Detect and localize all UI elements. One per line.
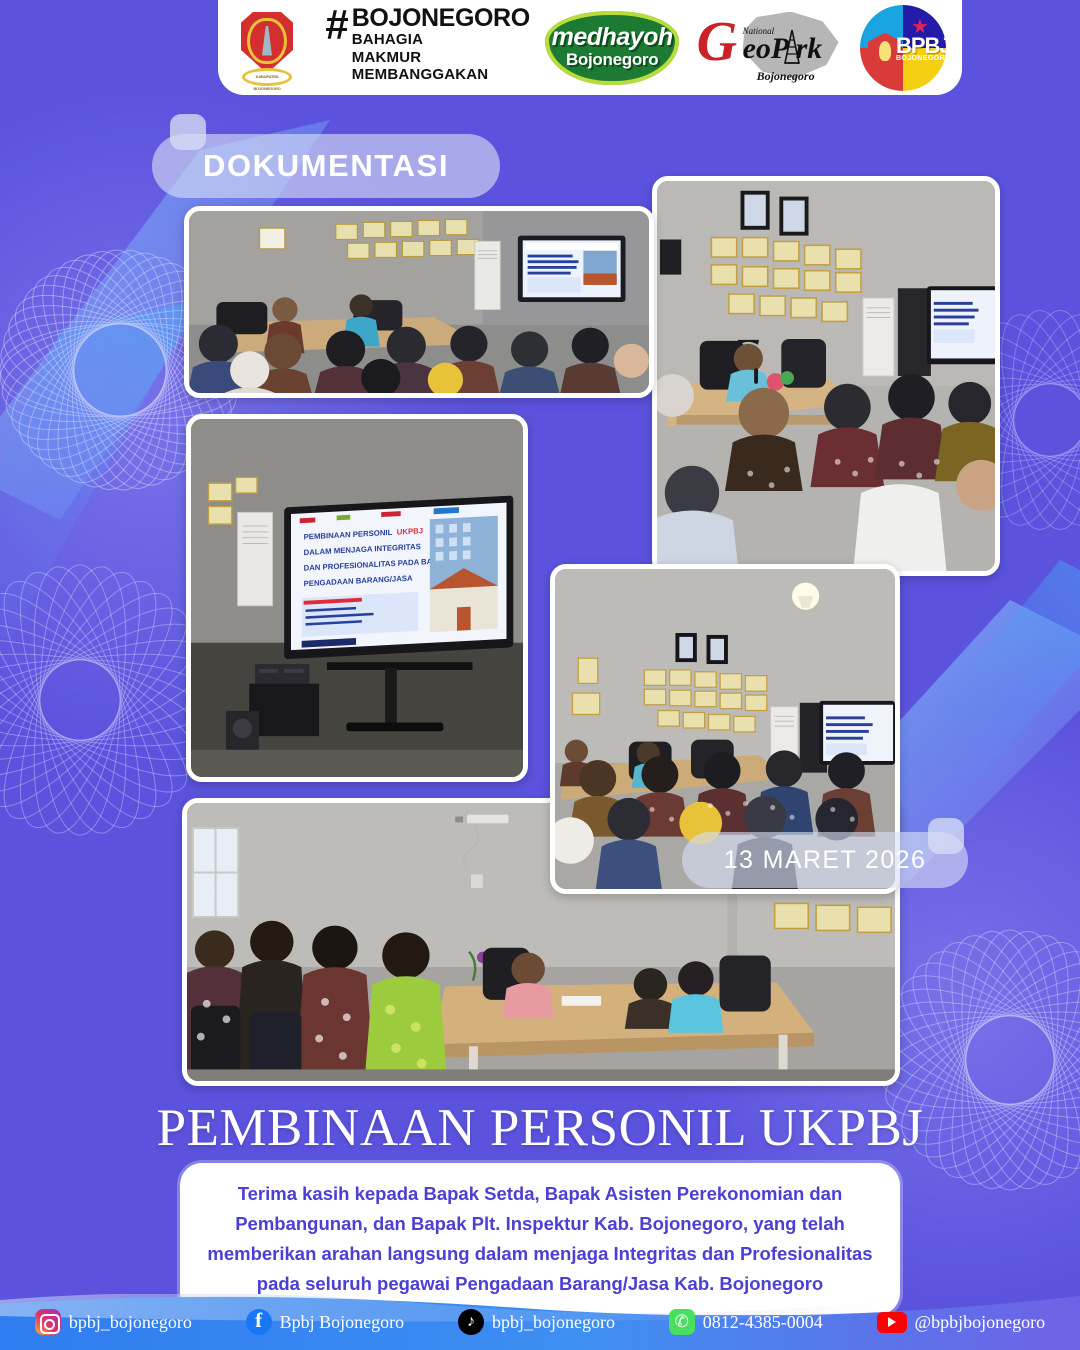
whatsapp-number: 0812-4385-0004 [703,1312,823,1333]
social-footer-bar: bpbj_bojonegoro f Bpbj Bojonegoro ♪ bpbj… [0,1294,1080,1350]
logo-national-geopark: G National eoP rk Bojonegoro [695,6,845,89]
hashtag-word-bahagia: BAHAGIA [352,31,530,49]
oil-derrick-icon [781,30,803,64]
page-title: PEMBINAAN PERSONIL UKPBJ [0,1098,1080,1158]
logo-hashtag-bojonegoro: # BOJONEGORO BAHAGIA MAKMUR MEMBANGGAKAN [325,6,529,89]
bpbj-text: BPBJ [896,35,946,57]
emblem-caption: KABUPATEN BOJONEGORO [245,71,289,95]
facebook-handle: Bpbj Bojonegoro [280,1312,405,1333]
logo-bojonegoro-regency-emblem: KABUPATEN BOJONEGORO [234,6,300,89]
social-tiktok[interactable]: ♪ bpbj_bojonegoro [458,1309,615,1335]
hash-symbol-icon: # [325,6,346,45]
decorative-square-date [928,818,964,854]
geopark-g-letter: G [697,14,737,70]
svg-text:UKPBJ: UKPBJ [397,526,423,536]
social-whatsapp[interactable]: ✆ 0812-4385-0004 [669,1309,823,1335]
youtube-handle: @bpbjbojonegoro [915,1312,1046,1333]
facebook-icon[interactable]: f [246,1309,272,1335]
date-badge: 13 MARET 2026 [682,832,968,888]
social-facebook[interactable]: f Bpbj Bojonegoro [246,1309,405,1335]
tiktok-handle: bpbj_bojonegoro [492,1312,615,1333]
hashtag-line-1: BOJONEGORO [352,6,530,31]
medhayoh-line-2: Bojonegoro [545,51,679,68]
logo-bpbj-bojonegoro: BPBJ BOJONEGORO [860,6,946,89]
youtube-icon[interactable] [877,1312,907,1333]
hashtag-word-membanggakan: MEMBANGGAKAN [352,66,530,84]
caption-text: Terima kasih kepada Bapak Setda, Bapak A… [180,1163,900,1315]
photo-audience-wide [184,206,654,398]
tiktok-icon[interactable]: ♪ [458,1309,484,1335]
header-logo-bar: KABUPATEN BOJONEGORO # BOJONEGORO BAHAGI… [218,0,962,95]
whatsapp-icon[interactable]: ✆ [669,1309,695,1335]
social-youtube[interactable]: @bpbjbojonegoro [877,1312,1046,1333]
photo-presentation-screen: PEMBINAAN PERSONIL DALAM MENJAGA INTEGRI… [186,414,528,782]
photo-speaker-mic [652,176,1000,576]
bpbj-subtitle: BOJONEGORO [896,55,946,62]
logo-medhayoh-bojonegoro: medhayoh Bojonegoro [545,6,679,89]
instagram-handle: bpbj_bojonegoro [69,1312,192,1333]
hashtag-word-makmur: MAKMUR [352,49,530,67]
social-instagram[interactable]: bpbj_bojonegoro [35,1309,192,1335]
geopark-subtitle: Bojonegoro [757,69,815,84]
medhayoh-line-1: medhayoh [545,25,679,50]
instagram-icon[interactable] [35,1309,61,1335]
regency-emblem-icon: KABUPATEN BOJONEGORO [234,8,300,88]
decorative-square-top [170,114,206,150]
